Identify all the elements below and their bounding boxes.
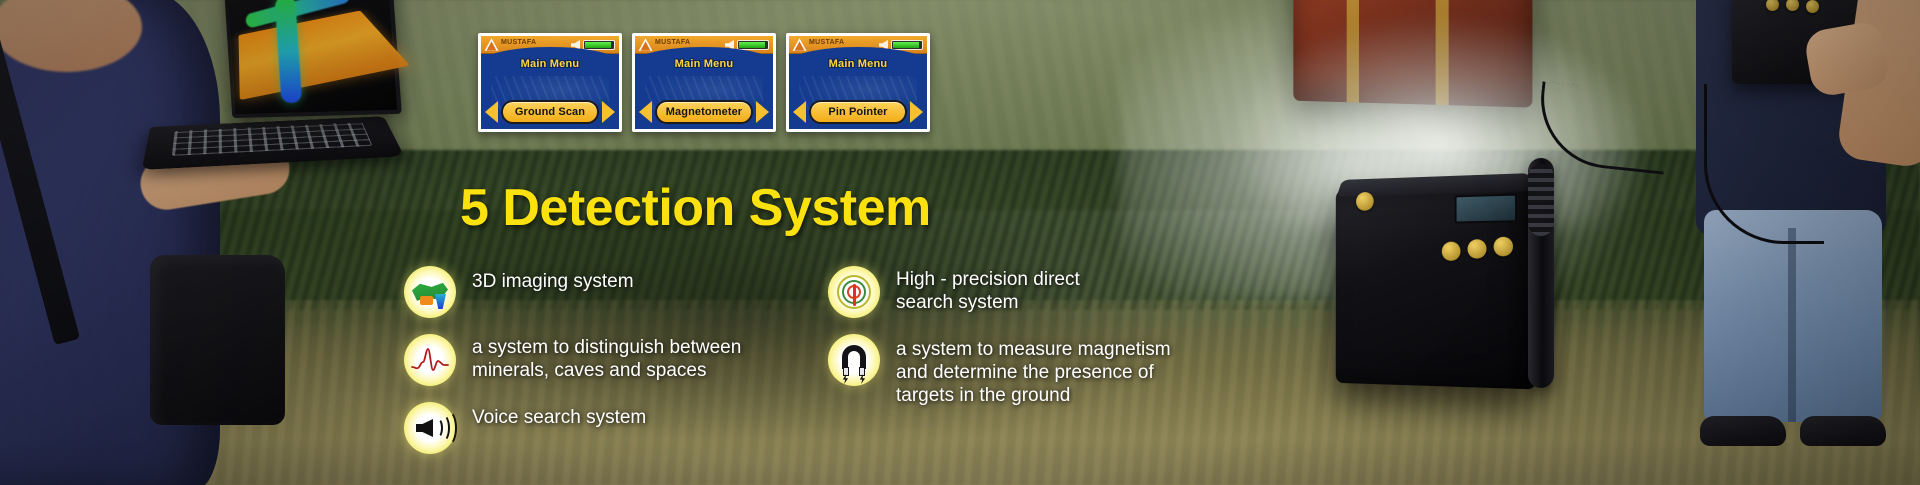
brand-label: MUSTAFA <box>655 39 690 46</box>
terrain-orange-marker <box>420 296 433 305</box>
menu-selector: Magnetometer <box>639 100 769 124</box>
right-arrow-icon[interactable] <box>910 101 923 123</box>
menu-body: Main Menu Pin Pointer <box>789 54 927 132</box>
page-title: 5 Detection System <box>460 178 931 238</box>
device-menu-screens: MUSTAFA Main Menu Ground Scan MUSTAFA <box>478 33 930 132</box>
horseshoe-magnet-icon <box>828 334 880 386</box>
mode-button[interactable]: Magnetometer <box>655 100 753 124</box>
waveform-glyph <box>411 346 449 374</box>
menu-title: Main Menu <box>789 58 927 70</box>
menu-screen-pin-pointer[interactable]: MUSTAFA Main Menu Pin Pointer <box>786 33 930 132</box>
battery-level <box>739 42 765 48</box>
speaker-icon <box>725 40 734 50</box>
magnet-body-shape <box>842 345 866 369</box>
magnet-pole-left <box>843 367 849 376</box>
brand-label: MUSTAFA <box>501 39 536 46</box>
feature-label: Voice search system <box>472 402 646 429</box>
menu-selector: Ground Scan <box>485 100 615 124</box>
status-bar: MUSTAFA <box>789 36 927 54</box>
left-arrow-icon[interactable] <box>793 101 806 123</box>
list-item: a system to measure magnetism and determ… <box>828 334 1258 407</box>
status-bar: MUSTAFA <box>635 36 773 54</box>
speaker-icon <box>879 40 888 50</box>
list-item: Voice search system <box>404 402 824 454</box>
left-arrow-icon[interactable] <box>485 101 498 123</box>
speaker-sound-icon <box>404 402 456 454</box>
battery-icon <box>891 40 923 50</box>
battery-icon <box>583 40 615 50</box>
speaker-cone-shape <box>416 419 433 437</box>
menu-title: Main Menu <box>481 58 619 70</box>
terrain-blue-marker <box>435 294 446 309</box>
sound-wave-arc-3 <box>439 410 457 446</box>
left-arrow-icon[interactable] <box>639 101 652 123</box>
magnet-pole-right <box>859 367 865 376</box>
feature-list-left: 3D imaging system a system to distinguis… <box>404 266 824 470</box>
menu-body: Main Menu Ground Scan <box>481 54 619 132</box>
right-arrow-icon[interactable] <box>756 101 769 123</box>
mode-button[interactable]: Ground Scan <box>501 100 599 124</box>
radar-signal-icon <box>828 266 880 318</box>
menu-body: Main Menu Magnetometer <box>635 54 773 132</box>
list-item: a system to distinguish between minerals… <box>404 334 824 386</box>
menu-selector: Pin Pointer <box>793 100 923 124</box>
menu-screen-ground-scan[interactable]: MUSTAFA Main Menu Ground Scan <box>478 33 622 132</box>
battery-level <box>893 42 919 48</box>
feature-label: a system to measure magnetism and determ… <box>896 334 1171 407</box>
mode-button[interactable]: Pin Pointer <box>809 100 907 124</box>
radar-antenna-stem <box>853 284 857 306</box>
right-arrow-icon[interactable] <box>602 101 615 123</box>
status-bar: MUSTAFA <box>481 36 619 54</box>
menu-screen-magnetometer[interactable]: MUSTAFA Main Menu Magnetometer <box>632 33 776 132</box>
list-item: High - precision direct search system <box>828 266 1258 318</box>
feature-label: 3D imaging system <box>472 266 634 293</box>
feature-label: High - precision direct search system <box>896 266 1080 314</box>
feature-label: a system to distinguish between minerals… <box>472 334 741 382</box>
battery-level <box>585 42 611 48</box>
speaker-icon <box>571 40 580 50</box>
waveform-pulse-icon <box>404 334 456 386</box>
battery-icon <box>737 40 769 50</box>
promotional-banner: MUSTAFA Main Menu Ground Scan MUSTAFA <box>0 0 1920 485</box>
feature-list-right: High - precision direct search system a … <box>828 266 1258 423</box>
list-item: 3D imaging system <box>404 266 824 318</box>
3d-terrain-icon <box>404 266 456 318</box>
menu-title: Main Menu <box>635 58 773 70</box>
brand-label: MUSTAFA <box>809 39 844 46</box>
